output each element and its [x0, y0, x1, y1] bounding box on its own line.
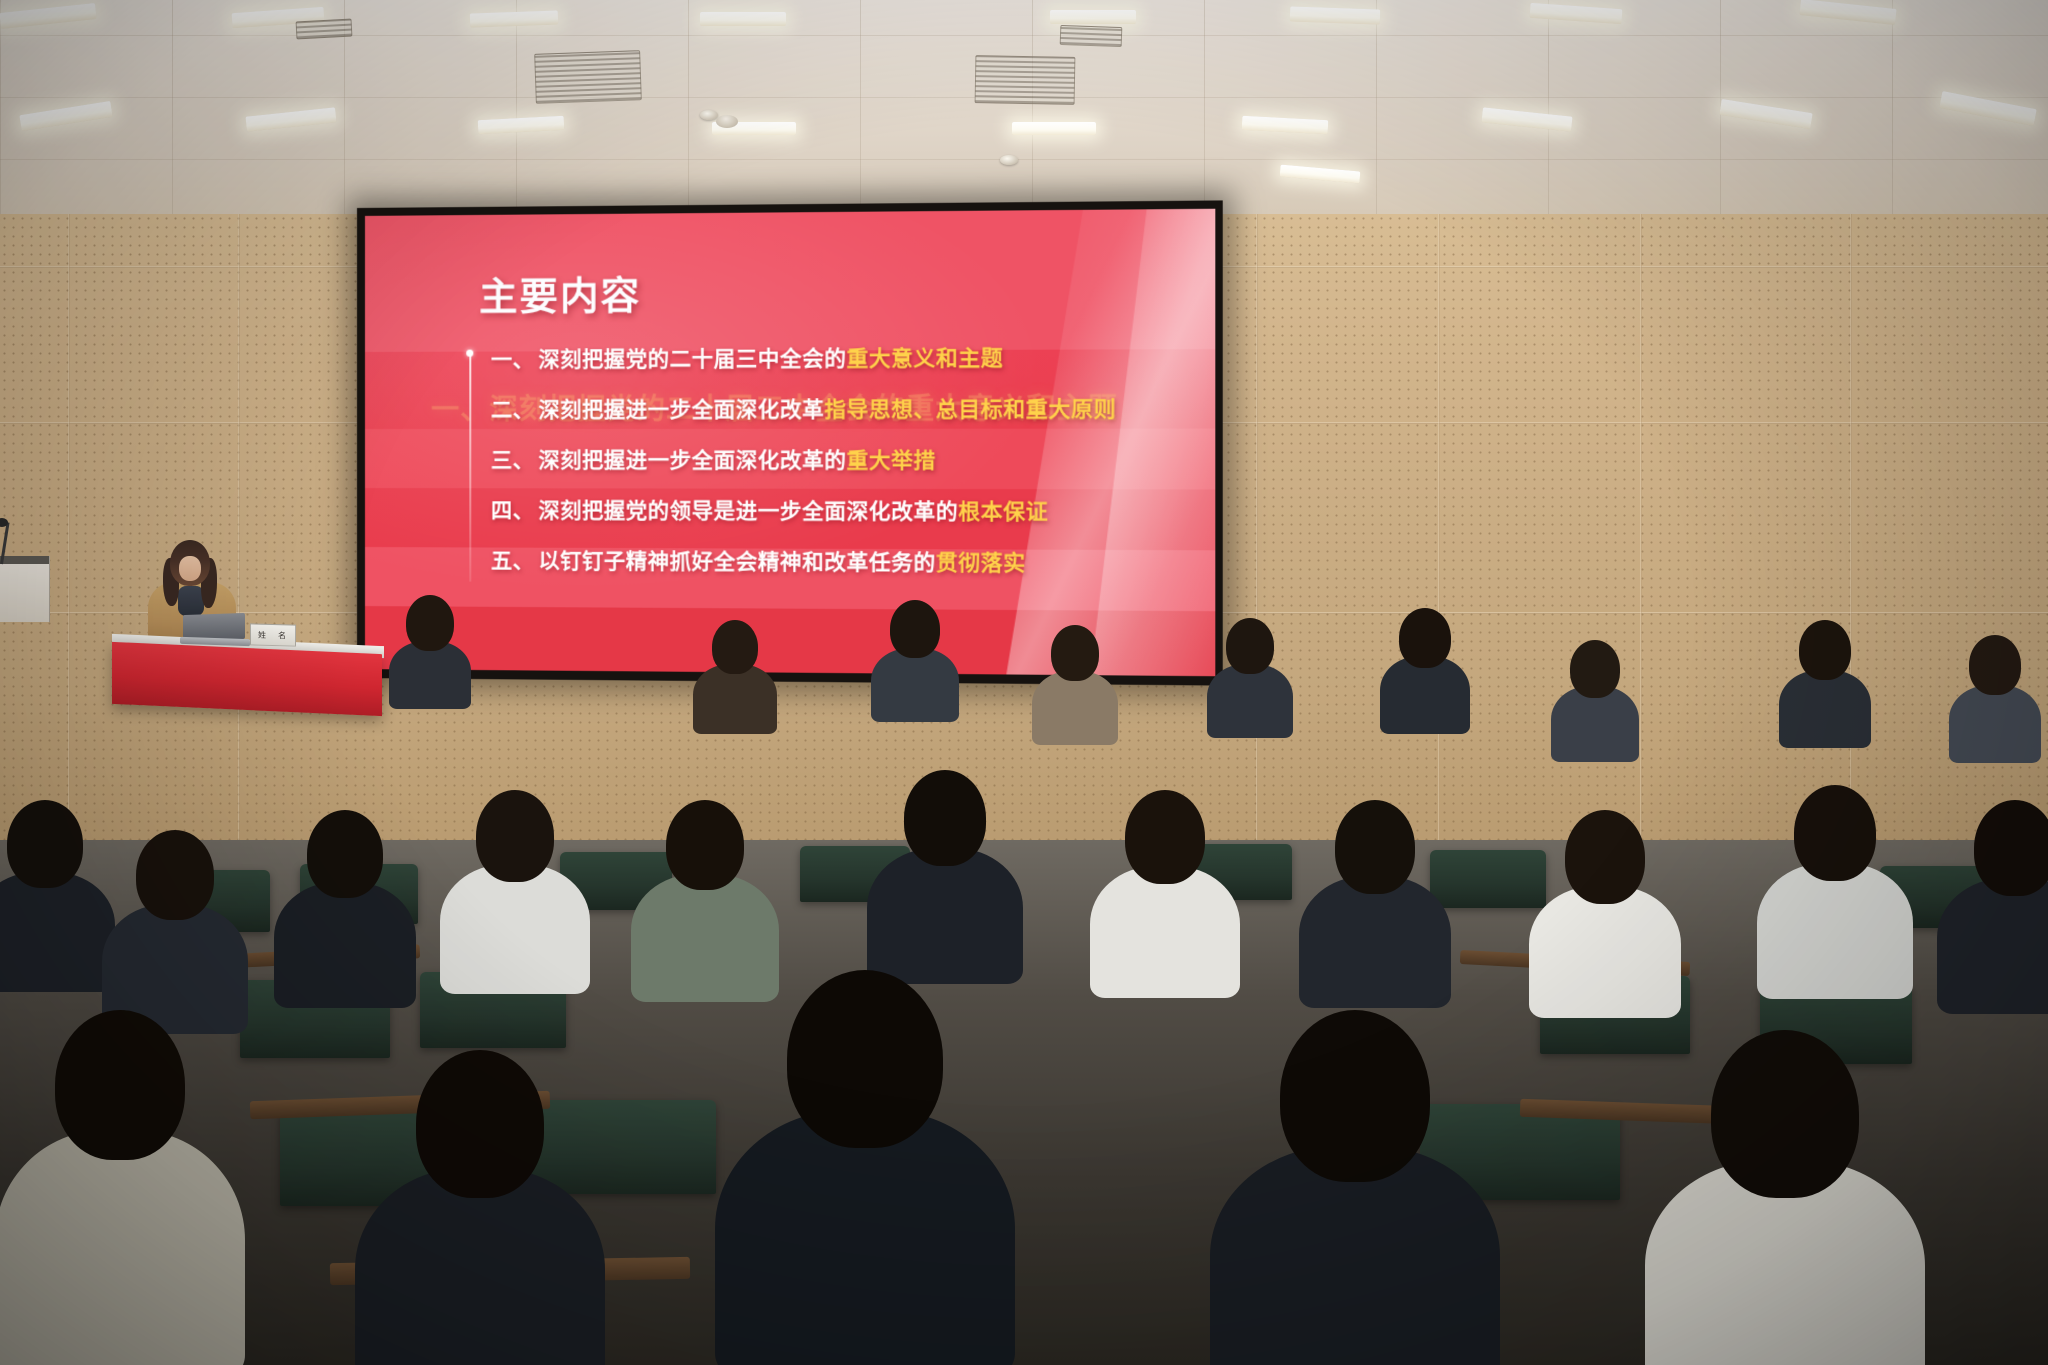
- wall-seam-vertical: [1640, 214, 1642, 854]
- bullet-highlight: 指导思想、总目标和重大原则: [824, 397, 1116, 421]
- person-head: [1226, 618, 1274, 674]
- person-head: [904, 770, 986, 866]
- person-body: [1090, 866, 1240, 998]
- audience-person: [1720, 1030, 1850, 1365]
- bullet-highlight: 重大举措: [846, 449, 935, 473]
- person-head: [1399, 608, 1451, 668]
- seat[interactable]: [520, 1100, 716, 1194]
- audience-person: [1330, 800, 1420, 1005]
- nameplate: 姓 名: [250, 623, 296, 646]
- audience-person: [660, 800, 750, 1000]
- person-head: [712, 620, 758, 674]
- slide-bullet-item: 五、以钉钉子精神抓好全会精神和改革任务的贯彻落实: [491, 550, 1189, 574]
- person-head: [476, 790, 554, 882]
- audience-person: [1040, 625, 1110, 743]
- person-body: [871, 648, 959, 722]
- person-body: [274, 882, 416, 1008]
- bullet-number: 五、: [491, 549, 534, 572]
- person-body: [631, 874, 779, 1002]
- person-body: [440, 864, 590, 994]
- audience-person: [700, 620, 770, 730]
- audience-person: [1390, 608, 1460, 732]
- wall-seam-vertical: [238, 214, 240, 854]
- bullet-text: 深刻把握进一步全面深化改革: [538, 398, 824, 422]
- ceiling-light: [1012, 122, 1096, 135]
- audience-person: [1790, 620, 1860, 746]
- wall-seam-vertical: [1850, 214, 1852, 854]
- person-head: [1969, 635, 2021, 695]
- person-head: [1974, 800, 2048, 896]
- person-body: [1299, 876, 1451, 1008]
- wall-seam-vertical: [1256, 214, 1258, 854]
- podium: [0, 556, 50, 622]
- ceiling-speaker-icon: [716, 115, 738, 128]
- person-body: [867, 848, 1023, 984]
- person-head: [416, 1050, 544, 1198]
- bullet-number: 三、: [491, 449, 534, 472]
- bullet-text: 深刻把握进一步全面深化改革的: [538, 449, 846, 472]
- smoke-detector-icon: [700, 110, 718, 120]
- audience-person: [1560, 810, 1650, 1015]
- bullet-text: 深刻把握党的领导是进一步全面深化改革的: [538, 499, 958, 523]
- audience-person: [130, 830, 220, 1030]
- wall-seam-vertical: [68, 214, 70, 854]
- audience-person: [1120, 790, 1210, 995]
- person-body: [693, 664, 777, 734]
- audience-person: [880, 600, 950, 720]
- wall-seam-vertical: [1438, 214, 1440, 854]
- presenter-table: [112, 642, 382, 716]
- person-body: [389, 641, 471, 709]
- smoke-detector-icon: [1000, 155, 1018, 165]
- person-body: [1779, 670, 1871, 748]
- person-head: [1570, 640, 1620, 698]
- bullet-number: 四、: [491, 499, 534, 522]
- audience-person: [1790, 785, 1880, 995]
- hvac-vent: [296, 19, 353, 40]
- bullet-highlight: 贯彻落实: [936, 551, 1026, 575]
- ceiling: [0, 0, 2048, 222]
- person-head: [55, 1010, 185, 1160]
- person-head: [1125, 790, 1205, 884]
- hvac-vent: [534, 50, 642, 104]
- slide-bullet-list: 一、深刻把握党的二十届三中全会的重大意义和主题 二、深刻把握进一步全面深化改革指…: [491, 347, 1189, 605]
- presenter-face: [179, 556, 201, 581]
- person-body: [1757, 863, 1913, 999]
- audience-person: [0, 800, 90, 990]
- bullet-number: 二、: [491, 398, 534, 421]
- person-head: [136, 830, 214, 920]
- slide-bullet-item: 二、深刻把握进一步全面深化改革指导思想、总目标和重大原则: [491, 398, 1189, 420]
- audience-person: [1560, 640, 1630, 760]
- slide-title: 主要内容: [479, 264, 641, 320]
- person-head: [406, 595, 454, 651]
- audience-person: [1960, 635, 2030, 761]
- person-head: [1335, 800, 1415, 894]
- audience-person: [420, 1050, 540, 1365]
- slide-bullet-rail: [469, 354, 471, 581]
- audience-person: [1215, 618, 1285, 736]
- person-head: [890, 600, 940, 658]
- slide-bullet-item: 四、深刻把握党的领导是进一步全面深化改革的根本保证: [491, 500, 1189, 523]
- person-body: [1032, 671, 1118, 745]
- hvac-vent: [1060, 25, 1123, 47]
- person-head: [1799, 620, 1851, 680]
- audience-person: [395, 595, 465, 705]
- bullet-number: 一、: [491, 348, 534, 371]
- audience-person: [1290, 1010, 1420, 1365]
- ceiling-light: [1050, 10, 1136, 24]
- person-body: [1529, 886, 1681, 1018]
- person-head: [1280, 1010, 1430, 1182]
- audience-person: [470, 790, 560, 990]
- bullet-text: 深刻把握党的二十届三中全会的: [538, 347, 846, 371]
- ceiling-light: [700, 12, 786, 26]
- person-head: [1711, 1030, 1859, 1198]
- bullet-highlight: 重大意义和主题: [846, 346, 1003, 370]
- audience-person: [1970, 800, 2048, 1010]
- bullet-text: 以钉钉子精神抓好全会精神和改革任务的: [538, 549, 935, 574]
- audience-person: [800, 970, 930, 1365]
- seat[interactable]: [1430, 850, 1546, 908]
- person-head: [666, 800, 744, 890]
- person-body: [0, 1130, 245, 1365]
- person-head: [787, 970, 943, 1148]
- person-body: [1207, 664, 1293, 738]
- person-body: [1949, 685, 2041, 763]
- podium-top: [0, 556, 49, 564]
- audience-person: [60, 1010, 180, 1365]
- audience-person: [300, 810, 390, 1005]
- person-body: [1937, 878, 2048, 1014]
- lecture-hall-photo: 一、深刻把握党的二十届三中全会的重大意义和主题 主要内容 一、深刻把握党的二十届…: [0, 0, 2048, 1365]
- person-head: [307, 810, 383, 898]
- ceiling-light: [1290, 6, 1380, 24]
- person-head: [1794, 785, 1876, 881]
- projection-screen-frame: 一、深刻把握党的二十届三中全会的重大意义和主题 主要内容 一、深刻把握党的二十届…: [357, 200, 1223, 685]
- hvac-vent: [975, 55, 1076, 105]
- person-head: [1051, 625, 1099, 681]
- slide-bullet-item: 一、深刻把握党的二十届三中全会的重大意义和主题: [491, 347, 1189, 371]
- person-head: [7, 800, 83, 888]
- projection-screen[interactable]: 一、深刻把握党的二十届三中全会的重大意义和主题 主要内容 一、深刻把握党的二十届…: [365, 209, 1215, 676]
- person-head: [1565, 810, 1645, 904]
- person-body: [715, 1110, 1015, 1365]
- audience-person: [900, 770, 990, 980]
- slide-bullet-item: 三、深刻把握进一步全面深化改革的重大举措: [491, 450, 1189, 472]
- bullet-highlight: 根本保证: [958, 500, 1048, 524]
- person-body: [0, 872, 115, 992]
